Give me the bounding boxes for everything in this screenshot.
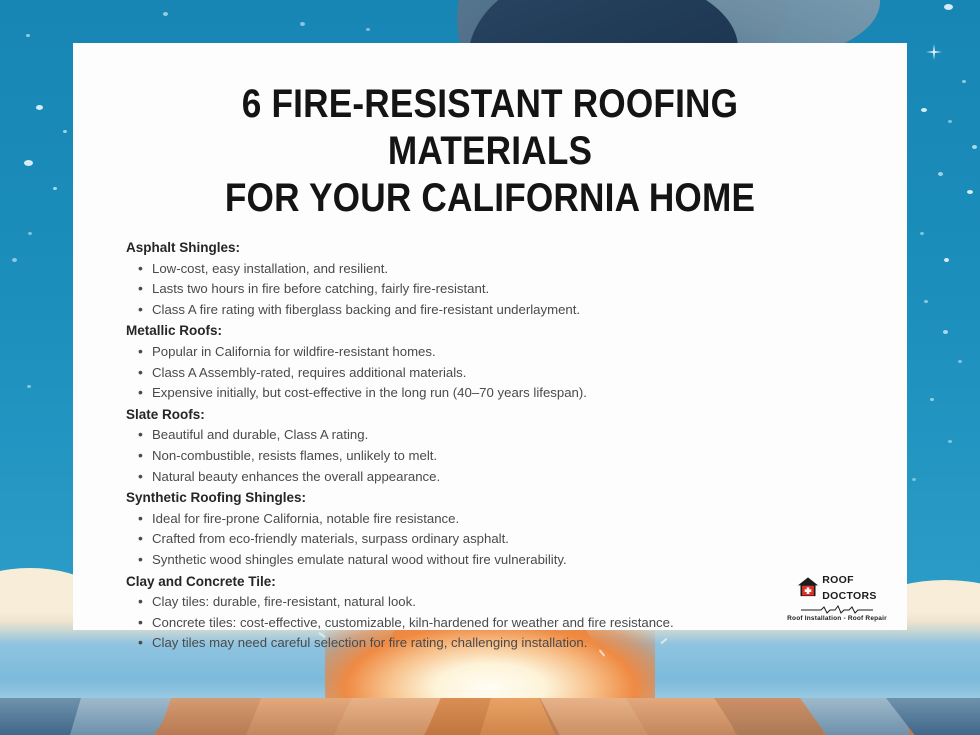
section-heading: Synthetic Roofing Shingles: bbox=[126, 488, 871, 509]
heartbeat-line-icon bbox=[801, 605, 873, 614]
section-heading: Asphalt Shingles: bbox=[126, 238, 871, 259]
content-card: 6 FIRE-RESISTANT ROOFING MATERIALS FOR Y… bbox=[73, 43, 907, 630]
star-dot bbox=[920, 232, 924, 235]
brand-logo: ROOF DOCTORS Roof Installation - Roof Re… bbox=[785, 571, 889, 622]
list-item: Class A fire rating with fiberglass back… bbox=[126, 300, 871, 321]
roof-deck-perspective bbox=[0, 698, 980, 735]
star-dot bbox=[366, 28, 370, 31]
star-dot bbox=[967, 190, 973, 194]
section-heading: Slate Roofs: bbox=[126, 405, 871, 426]
star-dot bbox=[12, 258, 17, 262]
list-item: Concrete tiles: cost-effective, customiz… bbox=[126, 613, 871, 634]
star-dot bbox=[958, 360, 962, 363]
sections-list: Asphalt Shingles: Low-cost, easy install… bbox=[73, 222, 907, 654]
list-item: Beautiful and durable, Class A rating. bbox=[126, 425, 871, 446]
star-dot bbox=[921, 108, 927, 112]
section-synthetic-roofing-shingles: Synthetic Roofing Shingles: Ideal for fi… bbox=[126, 488, 871, 570]
star-dot bbox=[912, 478, 916, 481]
title-line-2: FOR YOUR CALIFORNIA HOME bbox=[160, 175, 820, 222]
star-dot bbox=[944, 4, 953, 10]
star-dot bbox=[300, 22, 305, 26]
logo-wordmark: ROOF DOCTORS bbox=[822, 571, 876, 603]
logo-word-roof: ROOF bbox=[822, 574, 854, 586]
list-item: Expensive initially, but cost-effective … bbox=[126, 383, 871, 404]
section-metallic-roofs: Metallic Roofs: Popular in California fo… bbox=[126, 321, 871, 403]
star-dot bbox=[962, 80, 966, 83]
section-slate-roofs: Slate Roofs: Beautiful and durable, Clas… bbox=[126, 405, 871, 487]
star-dot bbox=[28, 232, 32, 235]
house-with-medical-cross-icon bbox=[797, 576, 819, 598]
logo-word-doctors: DOCTORS bbox=[822, 590, 876, 602]
page-title: 6 FIRE-RESISTANT ROOFING MATERIALS FOR Y… bbox=[123, 43, 857, 222]
list-item: Class A Assembly-rated, requires additio… bbox=[126, 363, 871, 384]
star-dot bbox=[924, 300, 928, 303]
star-dot bbox=[24, 160, 33, 166]
star-dot bbox=[27, 385, 31, 388]
section-heading: Clay and Concrete Tile: bbox=[126, 572, 871, 593]
list-item: Clay tiles: durable, fire-resistant, nat… bbox=[126, 592, 871, 613]
section-bullets: Beautiful and durable, Class A rating. N… bbox=[126, 425, 871, 487]
list-item: Natural beauty enhances the overall appe… bbox=[126, 467, 871, 488]
star-dot bbox=[930, 398, 934, 401]
star-dot bbox=[972, 145, 977, 149]
list-item: Popular in California for wildfire-resis… bbox=[126, 342, 871, 363]
star-dot bbox=[63, 130, 67, 133]
star-dot bbox=[53, 187, 57, 190]
star-dot bbox=[163, 12, 168, 16]
section-bullets: Low-cost, easy installation, and resilie… bbox=[126, 259, 871, 321]
star-dot bbox=[26, 34, 30, 37]
section-heading: Metallic Roofs: bbox=[126, 321, 871, 342]
list-item: Non-combustible, resists flames, unlikel… bbox=[126, 446, 871, 467]
list-item: Lasts two hours in fire before catching,… bbox=[126, 279, 871, 300]
section-bullets: Popular in California for wildfire-resis… bbox=[126, 342, 871, 404]
logo-mark-row: ROOF DOCTORS bbox=[785, 571, 889, 603]
section-bullets: Ideal for fire-prone California, notable… bbox=[126, 509, 871, 571]
list-item: Synthetic wood shingles emulate natural … bbox=[126, 550, 871, 571]
section-asphalt-shingles: Asphalt Shingles: Low-cost, easy install… bbox=[126, 238, 871, 320]
sparkle-star-icon bbox=[926, 44, 942, 60]
star-dot bbox=[36, 105, 43, 110]
section-clay-and-concrete-tile: Clay and Concrete Tile: Clay tiles: dura… bbox=[126, 572, 871, 654]
list-item: Low-cost, easy installation, and resilie… bbox=[126, 259, 871, 280]
list-item: Ideal for fire-prone California, notable… bbox=[126, 509, 871, 530]
logo-tagline: Roof Installation - Roof Repair bbox=[785, 615, 889, 622]
star-dot bbox=[943, 330, 948, 334]
list-item: Crafted from eco-friendly materials, sur… bbox=[126, 529, 871, 550]
star-dot bbox=[938, 172, 943, 176]
star-dot bbox=[948, 120, 952, 123]
section-bullets: Clay tiles: durable, fire-resistant, nat… bbox=[126, 592, 871, 654]
list-item: Clay tiles may need careful selection fo… bbox=[126, 633, 871, 654]
star-dot bbox=[944, 258, 949, 262]
star-dot bbox=[948, 440, 952, 443]
title-line-1: 6 FIRE-RESISTANT ROOFING MATERIALS bbox=[160, 81, 820, 175]
